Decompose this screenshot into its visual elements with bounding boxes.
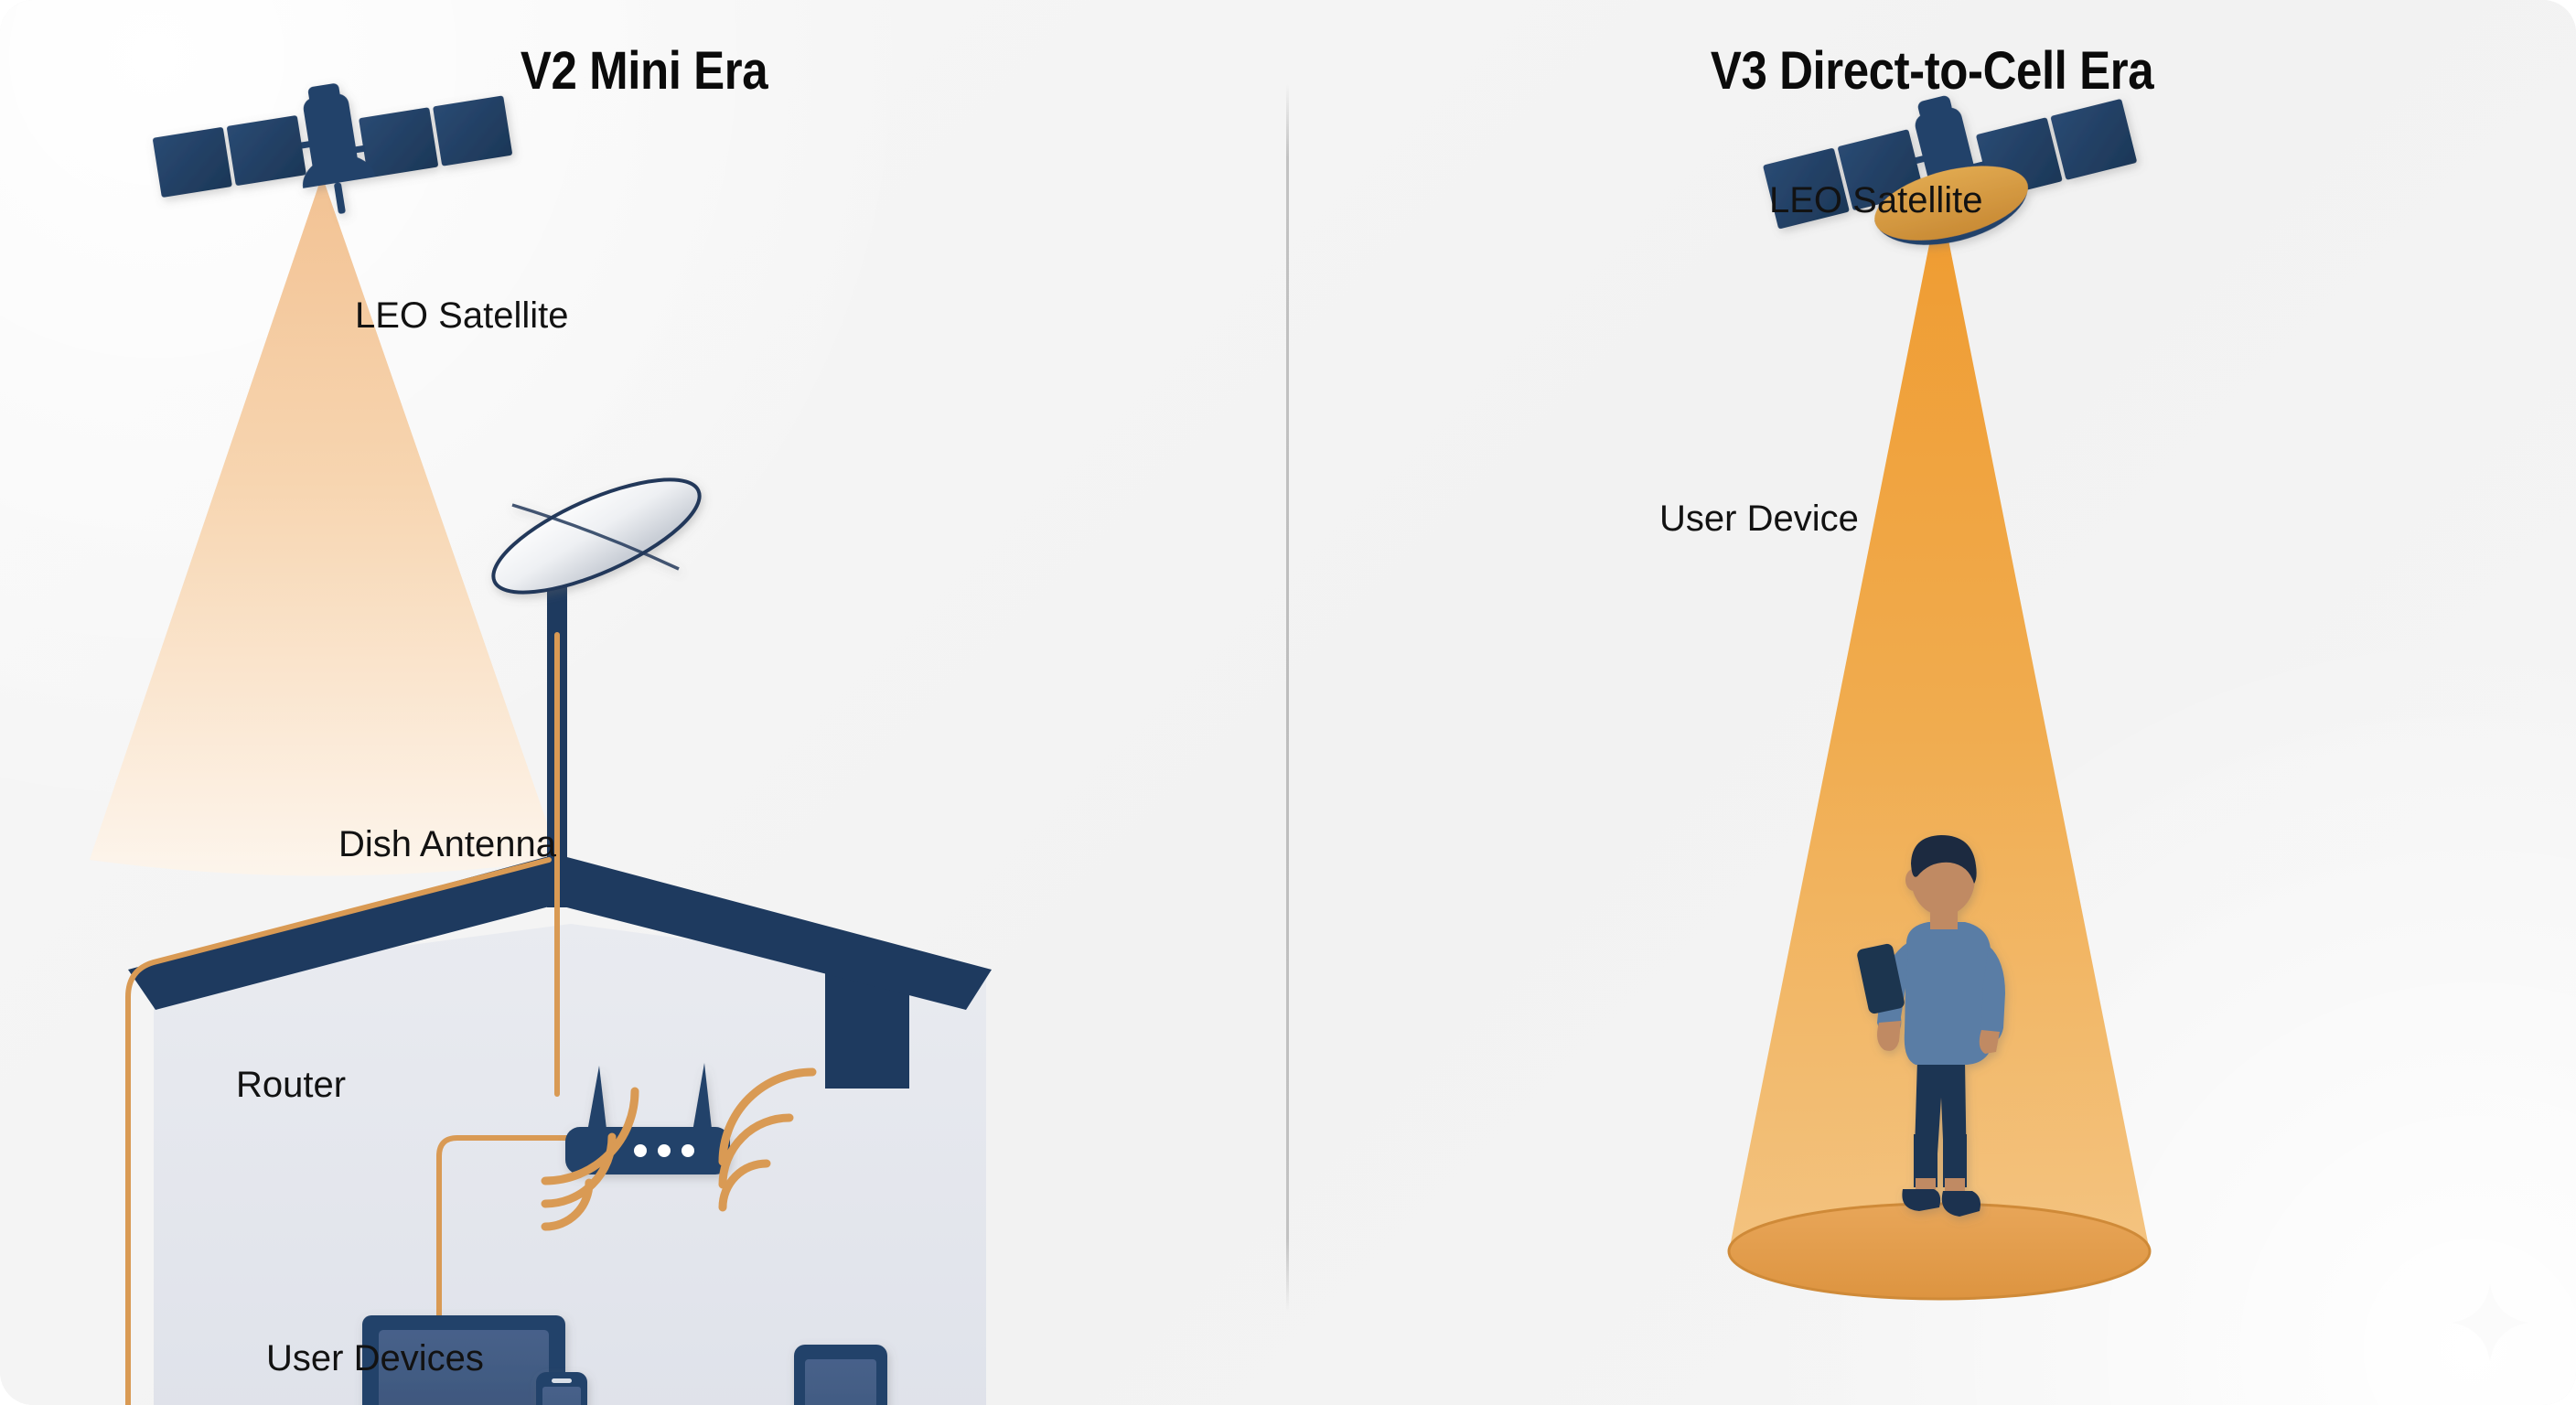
label-user-device: User Device [1659, 499, 1859, 540]
panel-v3-direct-to-cell-era: V3 Direct-to-Cell Era [1288, 0, 2576, 1405]
label-user-devices: User Devices [266, 1338, 484, 1379]
smartphone-device [536, 1372, 587, 1405]
label-router: Router [236, 1065, 346, 1106]
beam-ground-footprint [1729, 1204, 2150, 1299]
satellite-beam-cone-v2 [90, 176, 560, 876]
diagram-canvas: V2 Mini Era [0, 0, 2576, 1405]
label-leo-satellite-v3: LEO Satellite [1769, 180, 1982, 221]
label-leo-satellite-v2: LEO Satellite [355, 295, 568, 337]
tablet-device [794, 1345, 887, 1405]
leo-satellite-v3 [1757, 54, 2145, 283]
v2-scene-graphics [0, 0, 1288, 1405]
sparkle-icon [2448, 1281, 2532, 1365]
label-dish-antenna: Dish Antenna [338, 824, 556, 865]
satellite-beam-cone-v3 [1729, 194, 2150, 1299]
dish-reflector [479, 457, 713, 615]
panel-v2-mini-era: V2 Mini Era [0, 0, 1288, 1405]
